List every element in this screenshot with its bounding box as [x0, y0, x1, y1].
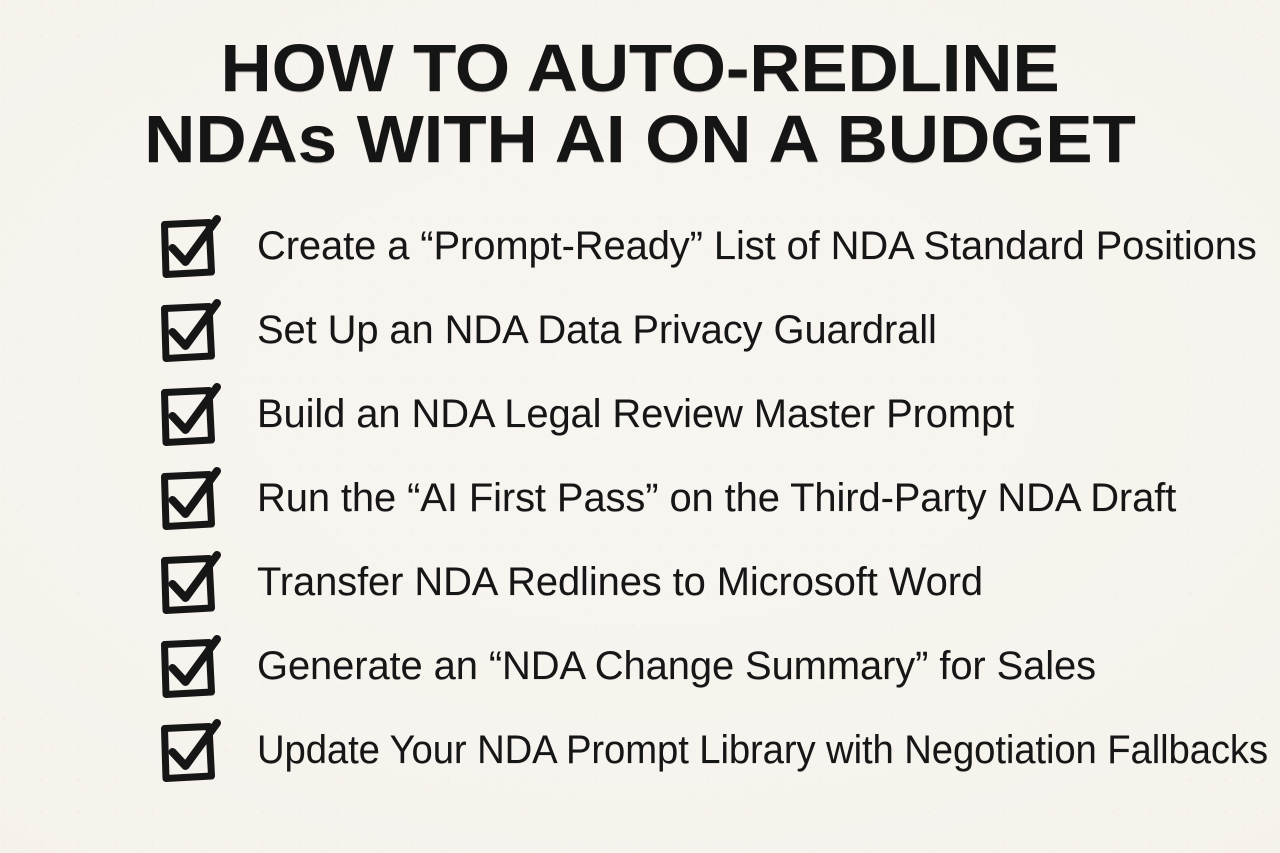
list-item-label: Transfer NDA Redlines to Microsoft Word: [257, 554, 1268, 610]
list-item-label: Build an NDA Legal Review Master Prompt: [257, 386, 1268, 442]
list-item[interactable]: Generate an “NDA Change Summary” for Sal…: [160, 632, 1270, 716]
list-item[interactable]: Set Up an NDA Data Privacy Guardrall: [160, 296, 1270, 380]
list-item-label: Create a “Prompt-Ready” List of NDA Stan…: [257, 218, 1268, 274]
checkbox-checked-icon[interactable]: [160, 301, 218, 367]
page-title-line-1: HOW TO AUTO-REDLINE: [0, 33, 1280, 104]
list-item[interactable]: Run the “AI First Pass” on the Third-Par…: [160, 464, 1270, 548]
page-title-line-2: NDAs WITH AI ON A BUDGET: [0, 104, 1280, 175]
checkbox-checked-icon[interactable]: [160, 217, 218, 283]
checkbox-checked-icon[interactable]: [160, 469, 218, 535]
poster-canvas: HOW TO AUTO-REDLINE NDAs WITH AI ON A BU…: [0, 0, 1280, 853]
list-item[interactable]: Transfer NDA Redlines to Microsoft Word: [160, 548, 1270, 632]
list-item[interactable]: Update Your NDA Prompt Library with Nego…: [160, 716, 1270, 800]
list-item-label: Set Up an NDA Data Privacy Guardrall: [257, 302, 1268, 358]
page-title: HOW TO AUTO-REDLINE NDAs WITH AI ON A BU…: [0, 33, 1280, 175]
list-item-label: Generate an “NDA Change Summary” for Sal…: [257, 638, 1268, 694]
checkbox-checked-icon[interactable]: [160, 553, 218, 619]
list-item[interactable]: Create a “Prompt-Ready” List of NDA Stan…: [160, 212, 1270, 296]
list-item-label: Run the “AI First Pass” on the Third-Par…: [257, 470, 1268, 526]
list-item-label: Update Your NDA Prompt Library with Nego…: [257, 722, 1268, 778]
checkbox-checked-icon[interactable]: [160, 385, 218, 451]
checkbox-checked-icon[interactable]: [160, 721, 218, 787]
list-item[interactable]: Build an NDA Legal Review Master Prompt: [160, 380, 1270, 464]
checkbox-checked-icon[interactable]: [160, 637, 218, 703]
checklist: Create a “Prompt-Ready” List of NDA Stan…: [160, 212, 1270, 800]
